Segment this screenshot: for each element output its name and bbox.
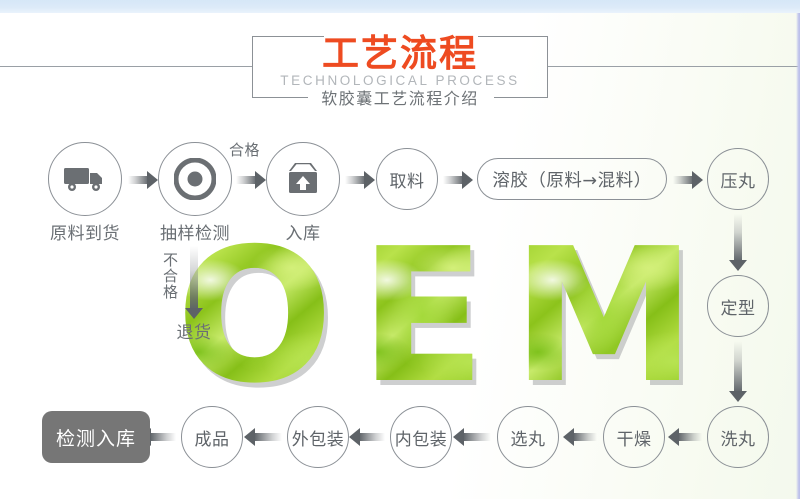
node-inner-packaging[interactable]: 内包装 [390, 406, 452, 468]
label-pill-pressing: 压丸 [721, 167, 756, 192]
label-warehousing: 入库 [256, 219, 350, 244]
header: 工艺流程 TECHNOLOGICAL PROCESS 软胶囊工艺流程介绍 [0, 18, 800, 118]
node-raw-material-arrival[interactable] [48, 142, 122, 216]
page-title: 工艺流程 [0, 34, 800, 74]
node-pill-selection[interactable]: 选丸 [497, 406, 559, 468]
watermark-letter-m: M [512, 241, 696, 391]
label-material-pickup: 取料 [390, 167, 425, 192]
label-pill-selection: 选丸 [511, 425, 546, 450]
node-outer-packaging[interactable]: 外包装 [287, 406, 349, 468]
sampling-inspection-icon [174, 158, 216, 200]
label-finished-product: 成品 [195, 425, 230, 450]
label-sampling-inspection: 抽样检测 [138, 219, 252, 244]
arrow-outer-packaging-to-finished [244, 428, 282, 446]
label-pill-washing: 洗丸 [721, 425, 756, 450]
arrow-pickup-to-solgel [443, 171, 473, 189]
oem-watermark: O E M [176, 236, 696, 396]
truck-icon [63, 165, 107, 193]
node-inspection-warehousing[interactable]: 检测入库 [42, 411, 150, 463]
arrow-washing-to-drying [668, 428, 702, 446]
arrow-selection-to-inner-packaging [453, 428, 491, 446]
arrow-solgel-to-pressing [673, 171, 703, 189]
process-flow-infographic: 工艺流程 TECHNOLOGICAL PROCESS 软胶囊工艺流程介绍 O E… [0, 0, 800, 499]
label-inner-packaging: 内包装 [395, 425, 448, 450]
node-sol-gel[interactable]: 溶胶（原料→混料） [477, 158, 667, 200]
arrow-inner-to-outer-packaging [349, 428, 385, 446]
label-outer-packaging: 外包装 [292, 425, 345, 450]
node-drying[interactable]: 干燥 [603, 406, 665, 468]
arrow-pressing-to-shaping [729, 214, 747, 272]
node-finished-product[interactable]: 成品 [181, 406, 243, 468]
arrow-sampling-to-warehousing [236, 171, 266, 189]
edge-label-unqualified: 不合格 [160, 252, 181, 300]
arrow-shaping-to-washing [729, 341, 747, 403]
label-raw-material-arrival: 原料到货 [28, 219, 142, 244]
inbox-down-arrow-icon [283, 160, 323, 198]
node-pill-washing[interactable]: 洗丸 [707, 406, 769, 468]
watermark-letter-e: E [359, 241, 485, 391]
right-edge-border [796, 13, 800, 499]
page-subtitle-en: TECHNOLOGICAL PROCESS [0, 72, 800, 89]
page-subtitle-cn: 软胶囊工艺流程介绍 [0, 89, 800, 109]
label-drying: 干燥 [617, 425, 652, 450]
arrow-sampling-to-return [185, 246, 203, 320]
label-sol-gel: 溶胶（原料→混料） [492, 167, 651, 192]
arrow-warehousing-to-pickup [345, 171, 375, 189]
node-warehousing[interactable] [266, 142, 340, 216]
node-shaping[interactable]: 定型 [707, 275, 769, 337]
node-pill-pressing[interactable]: 压丸 [707, 148, 769, 210]
edge-label-qualified: 合格 [229, 139, 260, 160]
node-sampling-inspection[interactable] [158, 142, 232, 216]
label-shaping: 定型 [721, 294, 756, 319]
label-inspection-warehousing: 检测入库 [56, 424, 136, 451]
arrow-arrival-to-sampling [128, 171, 158, 189]
label-return-goods: 退货 [157, 318, 231, 343]
node-material-pickup[interactable]: 取料 [376, 148, 438, 210]
top-color-band [0, 0, 800, 13]
arrow-drying-to-selection [563, 428, 597, 446]
